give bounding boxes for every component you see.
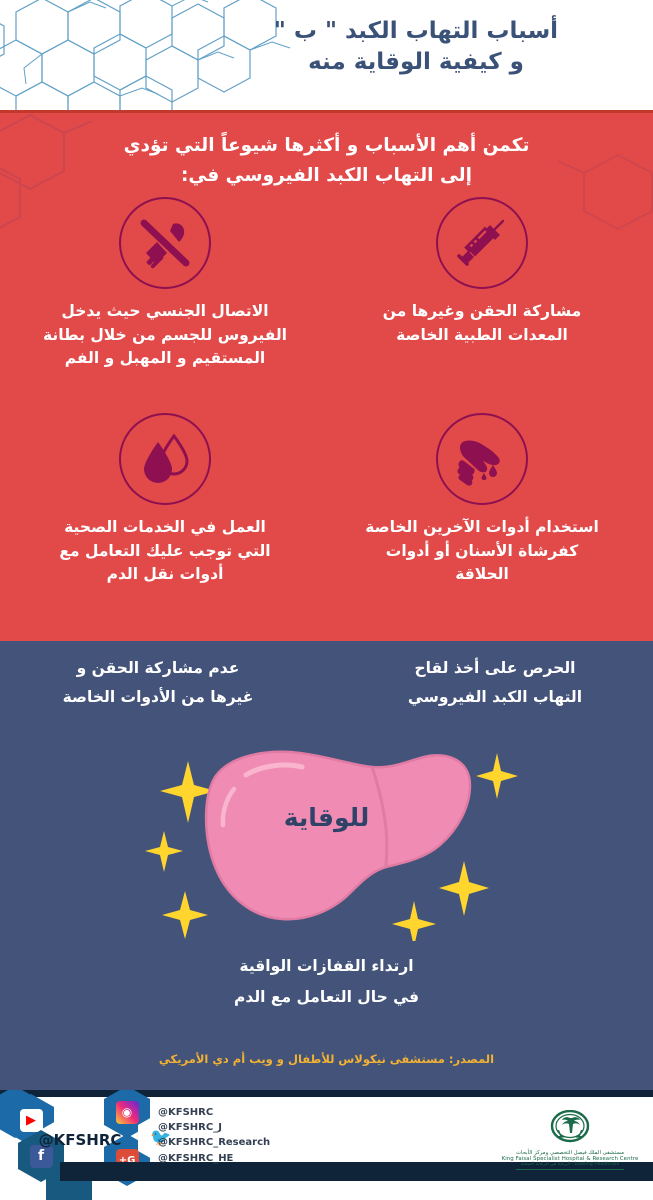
handle-kfshrc-research[interactable]: @KFSHRC_Research <box>158 1135 270 1150</box>
handle-kfshrc-he[interactable]: @KFSHRC_HE <box>158 1151 270 1166</box>
liver-organ-icon <box>206 752 470 919</box>
page-title: أسباب التهاب الكبد " ب " و كيفية الوقاية… <box>201 16 631 78</box>
handle-kfshrc-j[interactable]: @KFSHRC_J <box>158 1120 270 1135</box>
caption-line-3: المستقيم و المهبل و الفم <box>65 349 265 367</box>
note-line-1: ارتداء القفازات الواقية <box>0 951 653 982</box>
syringe-icon <box>451 212 513 274</box>
caption-line-2: كفرشاة الأسنان أو أدوات <box>386 542 578 560</box>
cause-icon-container <box>22 197 308 289</box>
causes-section: تكمن أهم الأسباب و أكثرها شيوعاً التي تؤ… <box>0 113 653 641</box>
condom-prohibited-icon <box>133 211 197 275</box>
prevention-note-gloves: ارتداء القفازات الواقية في حال التعامل م… <box>0 951 653 1013</box>
note-line-1: عدم مشاركة الحقن و <box>24 654 292 683</box>
intro-line-1: تكمن أهم الأسباب و أكثرها شيوعاً التي تؤ… <box>60 131 593 161</box>
caption-line-2: المعدات الطبية الخاصة <box>396 326 568 344</box>
logo-divider <box>516 1169 624 1170</box>
logo-tagline: الريادة في الرعاية الصحية - Leading Heal… <box>500 1162 640 1167</box>
bleeding-hand-icon <box>450 427 514 491</box>
cause-icon-container <box>339 197 625 289</box>
cause-icon-container <box>22 413 308 505</box>
youtube-icon[interactable]: ▶ <box>20 1109 43 1132</box>
cause-item-syringe: مشاركة الحقن وغيرها من المعدات الطبية ال… <box>339 197 625 347</box>
footer-top-bar <box>0 1090 653 1097</box>
instagram-icon[interactable]: ◉ <box>116 1101 139 1124</box>
cause-caption: العمل في الخدمات الصحية التي توجب عليك ا… <box>22 516 308 587</box>
caption-line-1: العمل في الخدمات الصحية <box>64 518 266 536</box>
palm-tree-swords-emblem-icon <box>550 1110 590 1144</box>
cause-item-sexual-contact: الاتصال الجنسي حيث يدخل الفيروس للجسم من… <box>22 197 308 371</box>
note-line-2: في حال التعامل مع الدم <box>0 982 653 1013</box>
blood-drops-icon <box>134 428 196 490</box>
icon-circle <box>436 413 528 505</box>
title-line-1: أسباب التهاب الكبد " ب " <box>201 16 631 47</box>
icon-circle <box>119 197 211 289</box>
caption-line-1: الاتصال الجنسي حيث يدخل <box>61 302 268 320</box>
cause-caption: مشاركة الحقن وغيرها من المعدات الطبية ال… <box>339 300 625 347</box>
note-line-1: الحرص على أخذ لقاح <box>361 654 629 683</box>
kfshrc-logo: مستشفى الملك فيصل التخصصي ومركز الأبحاث … <box>500 1110 640 1170</box>
caption-line-3: أدوات نقل الدم <box>107 565 224 583</box>
handle-kfshrc[interactable]: @KFSHRC <box>158 1105 270 1120</box>
prevention-note-vaccine: الحرص على أخذ لقاح التهاب الكبد الفيروسي <box>361 654 629 711</box>
caption-line-2: الفيروس للجسم من خلال بطانة <box>43 326 287 344</box>
cause-item-healthcare-work: العمل في الخدمات الصحية التي توجب عليك ا… <box>22 413 308 587</box>
header-section: أسباب التهاب الكبد " ب " و كيفية الوقاية… <box>0 0 653 113</box>
social-handles-list: @KFSHRC @KFSHRC_J @KFSHRC_Research @KFSH… <box>158 1105 270 1166</box>
liver-scene <box>0 741 653 941</box>
intro-line-2: إلى التهاب الكبد الفيروسي في: <box>60 161 593 191</box>
cause-caption: استخدام أدوات الآخرين الخاصة كفرشاة الأس… <box>339 516 625 587</box>
caption-line-3: الحلاقة <box>455 565 509 583</box>
footer-brand-handle: @KFSHRC <box>32 1131 128 1149</box>
title-line-2: و كيفية الوقاية منه <box>201 47 631 78</box>
prevention-note-no-sharing: عدم مشاركة الحقن و غيرها من الأدوات الخا… <box>24 654 292 711</box>
note-line-2: التهاب الكبد الفيروسي <box>361 683 629 712</box>
caption-line-2: التي توجب عليك التعامل مع <box>59 542 270 560</box>
cause-item-personal-tools: استخدام أدوات الآخرين الخاصة كفرشاة الأس… <box>339 413 625 587</box>
liver-illustration-stage: للوقاية <box>0 741 653 941</box>
icon-circle <box>119 413 211 505</box>
causes-intro-text: تكمن أهم الأسباب و أكثرها شيوعاً التي تؤ… <box>0 131 653 191</box>
caption-line-1: مشاركة الحقن وغيرها من <box>383 302 581 320</box>
icon-circle <box>436 197 528 289</box>
prevention-section: الحرص على أخذ لقاح التهاب الكبد الفيروسي… <box>0 641 653 1090</box>
source-credit: المصدر: مستشفى نيكولاس للأطفال و ويب أم … <box>0 1052 653 1066</box>
cause-icon-container <box>339 413 625 505</box>
caption-line-1: استخدام أدوات الآخرين الخاصة <box>365 518 599 536</box>
cause-caption: الاتصال الجنسي حيث يدخل الفيروس للجسم من… <box>22 300 308 371</box>
infographic-page: أسباب التهاب الكبد " ب " و كيفية الوقاية… <box>0 0 653 1200</box>
note-line-2: غيرها من الأدوات الخاصة <box>24 683 292 712</box>
